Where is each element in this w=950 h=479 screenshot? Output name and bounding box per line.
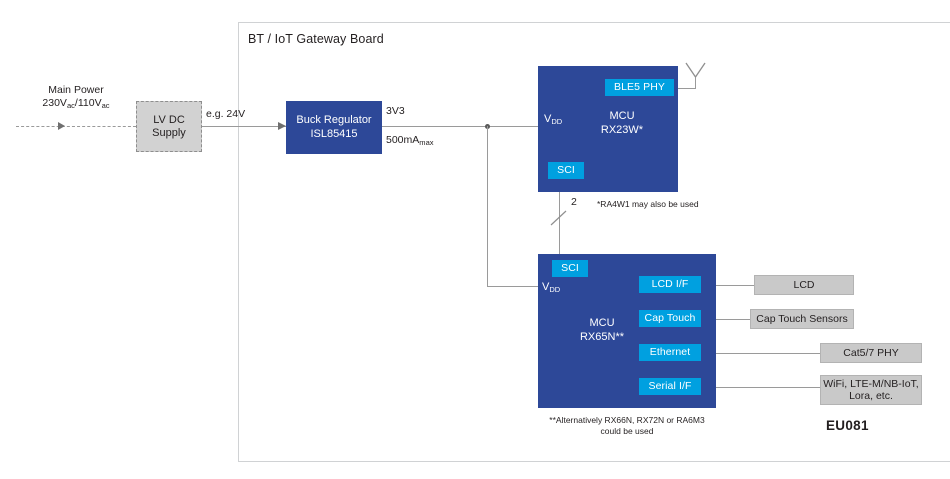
wireless-peripheral-box[interactable]: WiFi, LTE-M/NB-IoT, Lora, etc. [820, 375, 922, 405]
bus-width-slash-icon [548, 208, 570, 228]
wire-serial [716, 387, 820, 388]
supply-output-label: e.g. 24V [206, 108, 245, 121]
board-title: BT / IoT Gateway Board [248, 32, 384, 46]
lcd-peripheral-box[interactable]: LCD [754, 275, 854, 295]
main-power-voltage: 230Vac/110Vac [42, 97, 109, 109]
antenna-icon [684, 62, 708, 80]
bus-width-label: 2 [571, 196, 577, 209]
wire-rail-branch-down [487, 126, 488, 286]
cap-touch-sensors-peripheral-box[interactable]: Cap Touch Sensors [750, 309, 854, 329]
wire-lcd [716, 285, 754, 286]
block-diagram-canvas: BT / IoT Gateway Board EU081 Main Power … [0, 0, 950, 479]
mcu-rx23w-block[interactable]: VDD MCU RX23W* BLE5 PHY SCI [538, 66, 678, 192]
ble5-phy-chip[interactable]: BLE5 PHY [605, 79, 674, 96]
cat5-7-phy-peripheral-box[interactable]: Cat5/7 PHY [820, 343, 922, 363]
cap-touch-interface-chip[interactable]: Cap Touch [639, 310, 701, 327]
ac-input-dashed-line [16, 126, 136, 128]
wire-rail-to-mcu-bottom [487, 286, 538, 287]
rail-voltage-label: 3V3 [386, 105, 405, 118]
lcd-interface-chip[interactable]: LCD I/F [639, 276, 701, 293]
serial-interface-chip[interactable]: Serial I/F [639, 378, 701, 395]
main-power-label: Main Power 230Vac/110Vac [16, 84, 136, 110]
mcu-rx23w-sci-chip[interactable]: SCI [548, 162, 584, 179]
mcu-rx65n-footnote: **Alternatively RX66N, RX72N or RA6M3 co… [520, 415, 734, 437]
mcu-rx65n-sci-chip[interactable]: SCI [552, 260, 588, 277]
ac-input-arrowhead [58, 122, 65, 130]
mcu-rx23w-footnote: *RA4W1 may also be used [597, 199, 699, 210]
board-code-label: EU081 [826, 418, 869, 433]
mcu-rx65n-name: MCU RX65N** [564, 317, 640, 344]
mcu-rx23w-vdd-label: VDD [544, 113, 562, 125]
wire-ethernet [716, 353, 820, 354]
wire-rail-main [382, 126, 538, 127]
lv-dc-supply-block[interactable]: LV DC Supply [136, 101, 202, 152]
mcu-rx23w-name: MCU RX23W* [572, 110, 672, 137]
wire-phy-to-antenna [678, 88, 696, 89]
mcu-rx65n-block[interactable]: SCI VDD MCU RX65N** LCD I/F Cap Touch Et… [538, 254, 716, 408]
mcu-rx65n-vdd-label: VDD [542, 281, 560, 293]
ethernet-interface-chip[interactable]: Ethernet [639, 344, 701, 361]
regulator-input-arrowhead [278, 122, 286, 130]
rail-current-label: 500mAmax [386, 134, 434, 147]
wire-cap-touch [716, 319, 750, 320]
buck-regulator-block[interactable]: Buck Regulator ISL85415 [286, 101, 382, 154]
wire-supply-to-regulator [202, 126, 286, 127]
